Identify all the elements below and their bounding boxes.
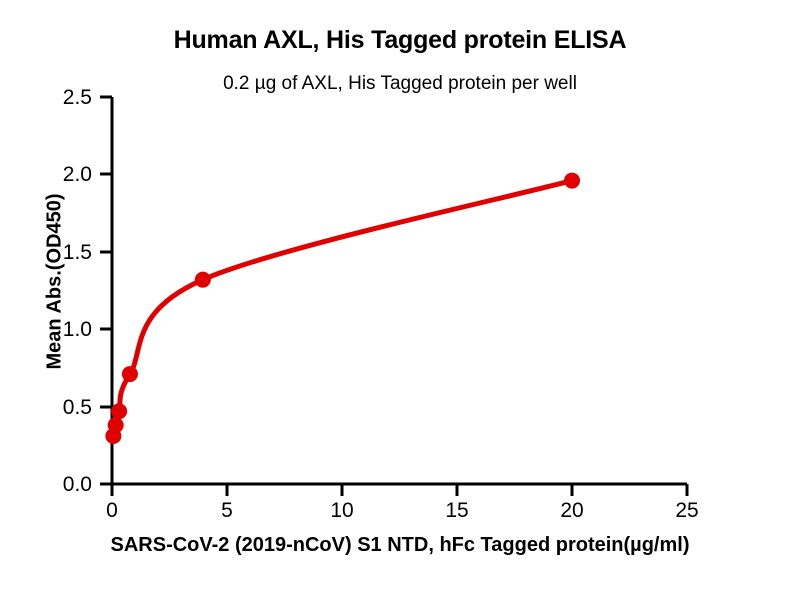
series-line	[113, 181, 572, 436]
data-point	[108, 417, 124, 433]
data-point	[111, 403, 127, 419]
x-axis	[112, 484, 687, 496]
x-axis-ticks	[112, 484, 687, 496]
plot-canvas	[0, 0, 800, 600]
data-point	[195, 272, 211, 288]
data-point	[564, 173, 580, 189]
series-markers	[105, 173, 580, 444]
data-point	[122, 366, 138, 382]
elisa-chart: Human AXL, His Tagged protein ELISA 0.2 …	[0, 0, 800, 600]
